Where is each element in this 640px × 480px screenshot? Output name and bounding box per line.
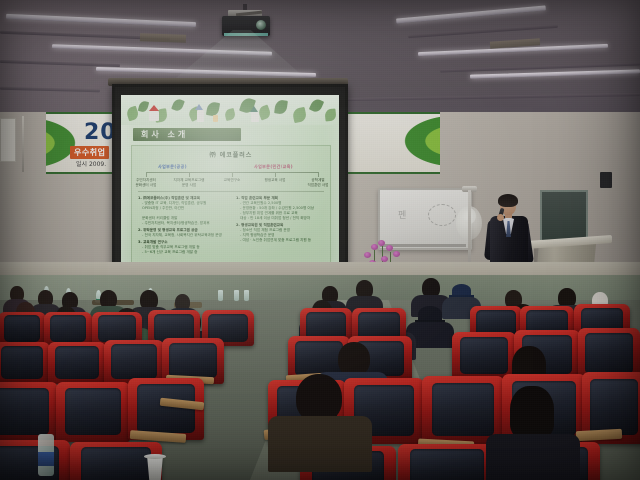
baseball-cap-icon	[418, 306, 442, 322]
org-box: 평생교육 사업	[258, 178, 292, 183]
org-connector	[275, 172, 276, 177]
org-connector	[232, 172, 233, 177]
house-roof-icon	[195, 104, 203, 110]
seat[interactable]	[56, 382, 130, 442]
presenter-hair	[498, 194, 518, 207]
slide-subtitle: ㈜ 에코플러스	[132, 150, 330, 159]
house-icon	[149, 111, 159, 121]
org-box: 주민자치센터문화센터 사업	[129, 178, 163, 187]
org-box: 공학계열직업훈련 사업	[301, 178, 335, 187]
water-bottle-label	[38, 452, 54, 466]
water-bottle	[244, 290, 249, 301]
wall-vent	[600, 172, 612, 188]
projector-lens-icon	[256, 20, 266, 30]
org-divider	[138, 191, 324, 192]
slide-column-right: 1. 직업 훈련교육 부문 계획- 연간 교육인원수 2,500명- 운영현황 …	[236, 196, 328, 245]
org-connector	[189, 172, 190, 177]
house-icon	[251, 112, 259, 122]
baseball-cap-icon	[452, 284, 471, 297]
slide-header-decoration	[121, 95, 339, 125]
banner-left-chip: 우수취업	[70, 146, 109, 159]
seat[interactable]	[48, 342, 106, 384]
seat[interactable]	[0, 342, 50, 384]
seat[interactable]	[44, 312, 92, 346]
house-roof-icon	[149, 105, 159, 111]
seat[interactable]	[398, 444, 496, 480]
slide-content-panel: ㈜ 에코플러스 사업부문(공공) 사업부문(민간/교육) 주민자치센터문화센터 …	[131, 145, 331, 265]
org-box: 교육연구소	[215, 178, 249, 183]
wall-rod	[22, 116, 24, 172]
slide-column-left: 1. ㈜에코플러스(주) 직업훈련 및 재교육- 맞춤형 IT 교육, 디자인,…	[138, 196, 230, 257]
seat[interactable]	[0, 312, 46, 346]
wall-notice	[0, 118, 16, 162]
ceiling-panel-gap	[140, 33, 186, 43]
org-connector	[146, 172, 147, 177]
seat[interactable]	[0, 440, 70, 480]
org-header-right: 사업부문(민간/교육)	[254, 164, 293, 170]
presentation-slide: 회사 소개 ㈜ 에코플러스 사업부문(공공) 사업부문(민간/교육) 주민자치센…	[121, 95, 339, 271]
water-bottle	[234, 290, 239, 301]
org-header-left: 사업부문(공공)	[158, 164, 187, 170]
paper-cup-rim	[144, 454, 166, 459]
house-icon	[213, 115, 218, 122]
whiteboard-marking: 펜	[398, 208, 406, 221]
banner-left-subtext: 일시 2009.	[76, 159, 106, 168]
org-connector	[318, 172, 319, 177]
presenter-hand	[497, 214, 504, 221]
whiteboard-marking	[428, 204, 456, 226]
house-icon	[197, 110, 204, 122]
projector-light-strip	[224, 33, 268, 36]
org-box: 지자체 교육프로그램운영 사업	[172, 178, 206, 187]
water-bottle	[218, 290, 223, 301]
seat[interactable]	[0, 382, 58, 442]
projection-screen: 회사 소개 ㈜ 에코플러스 사업부문(공공) 사업부문(민간/교육) 주민자치센…	[112, 84, 348, 282]
seat[interactable]	[452, 332, 516, 380]
photo-canvas: 200 우수취업 일시 2009. 수회 취업박람회 학교 취업지원과	[0, 0, 640, 480]
slide-title: 회사 소개	[133, 128, 241, 141]
house-roof-icon	[250, 106, 258, 112]
